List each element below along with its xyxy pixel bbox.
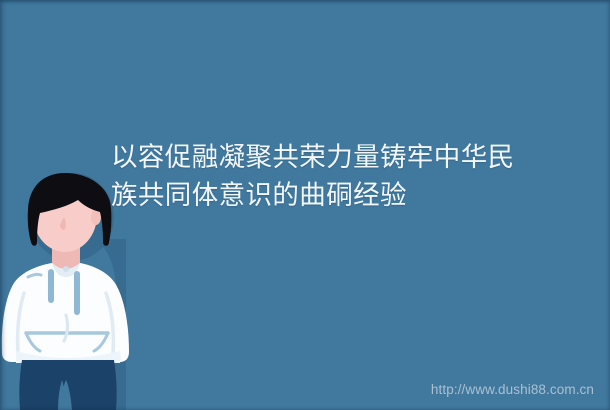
page-title-line-2: 族共同体意识的曲硐经验 bbox=[111, 176, 581, 214]
drawstring-right bbox=[74, 271, 80, 315]
drawstring-left bbox=[48, 269, 54, 303]
hood-eyelet bbox=[63, 266, 69, 272]
source-url-watermark: http://www.dushi88.com.cn bbox=[431, 382, 594, 397]
page-title: 以容促融凝聚共荣力量铸牢中华民 族共同体意识的曲硐经验 bbox=[111, 138, 581, 214]
article-cover-banner: 以容促融凝聚共荣力量铸牢中华民 族共同体意识的曲硐经验 http://www.d… bbox=[0, 0, 610, 410]
pants bbox=[19, 360, 116, 410]
page-title-line-1: 以容促融凝聚共荣力量铸牢中华民 bbox=[111, 138, 581, 176]
